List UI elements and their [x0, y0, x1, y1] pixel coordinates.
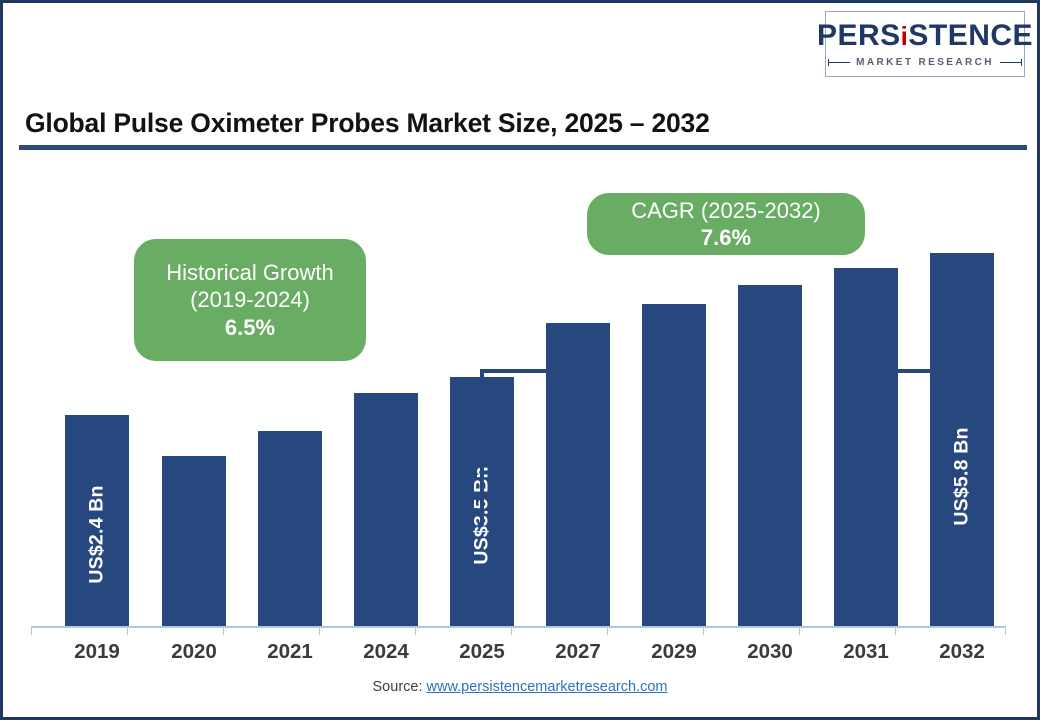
- x-tick-label-2030: 2030: [734, 640, 806, 664]
- logo-wordmark: PERSiSTENCE: [817, 21, 1033, 51]
- bar-value-label: US$3.5 Bn: [471, 466, 494, 564]
- bar-2019[interactable]: US$2.4 Bn: [65, 415, 129, 626]
- cagr-value: 7.6%: [701, 224, 751, 251]
- logo-rule-right-icon: [1000, 62, 1022, 63]
- bar-2029[interactable]: [642, 304, 706, 626]
- slide-canvas: PERSiSTENCE MARKET RESEARCH Global Pulse…: [0, 0, 1040, 720]
- x-tick-label-2021: 2021: [254, 640, 326, 664]
- x-tick-label-2024: 2024: [350, 640, 422, 664]
- source-line: Source: www.persistencemarketresearch.co…: [3, 679, 1037, 695]
- axis-tick: [127, 626, 128, 635]
- historical-growth-value: 6.5%: [225, 314, 275, 341]
- x-tick-label-2029: 2029: [638, 640, 710, 664]
- axis-tick: [799, 626, 800, 635]
- x-tick-label-2032: 2032: [926, 640, 998, 664]
- x-tick-label-2019: 2019: [61, 640, 133, 664]
- logo-subtitle: MARKET RESEARCH: [856, 57, 994, 68]
- source-prefix: Source:: [373, 679, 427, 695]
- logo-word-post: STENCE: [908, 19, 1033, 52]
- cagr-line1: CAGR (2025-2032): [631, 197, 821, 224]
- x-tick-label-2027: 2027: [542, 640, 614, 664]
- axis-tick: [703, 626, 704, 635]
- bar-2021[interactable]: [258, 431, 322, 626]
- x-tick-label-2025: 2025: [446, 640, 518, 664]
- logo-word-pre: PERS: [817, 19, 901, 52]
- x-tick-label-2031: 2031: [830, 640, 902, 664]
- axis-tick: [319, 626, 320, 635]
- bar-chart: US$2.4 Bn US$3.5 Bn US$5.8 Bn 2019 2020 …: [3, 153, 1037, 653]
- x-tick-label-2020: 2020: [158, 640, 230, 664]
- cagr-callout: CAGR (2025-2032) 7.6%: [587, 193, 865, 255]
- bar-2025[interactable]: US$3.5 Bn: [450, 377, 514, 626]
- axis-tick: [31, 626, 32, 635]
- historical-growth-line2: (2019-2024): [190, 286, 310, 313]
- logo-rule-left-icon: [828, 62, 850, 63]
- bar-2031[interactable]: [834, 268, 898, 626]
- bar-value-label: US$5.8 Bn: [951, 427, 974, 525]
- logo-subtitle-row: MARKET RESEARCH: [826, 57, 1024, 68]
- bar-2020[interactable]: [162, 456, 226, 626]
- x-axis-line: [31, 626, 1006, 628]
- title-underline: [19, 145, 1027, 150]
- historical-growth-line1: Historical Growth: [166, 259, 333, 286]
- persistence-market-research-logo: PERSiSTENCE MARKET RESEARCH: [825, 11, 1025, 77]
- axis-tick: [223, 626, 224, 635]
- axis-tick: [511, 626, 512, 635]
- bar-2032[interactable]: US$5.8 Bn: [930, 253, 994, 626]
- axis-tick: [1005, 626, 1006, 635]
- axis-tick: [607, 626, 608, 635]
- page-title: Global Pulse Oximeter Probes Market Size…: [25, 108, 710, 139]
- bar-2024[interactable]: [354, 393, 418, 626]
- source-link[interactable]: www.persistencemarketresearch.com: [427, 679, 668, 695]
- historical-growth-callout: Historical Growth (2019-2024) 6.5%: [134, 239, 366, 361]
- bar-2027[interactable]: [546, 323, 610, 626]
- axis-tick: [895, 626, 896, 635]
- bar-2030[interactable]: [738, 285, 802, 626]
- bar-value-label: US$2.4 Bn: [86, 485, 109, 583]
- axis-tick: [415, 626, 416, 635]
